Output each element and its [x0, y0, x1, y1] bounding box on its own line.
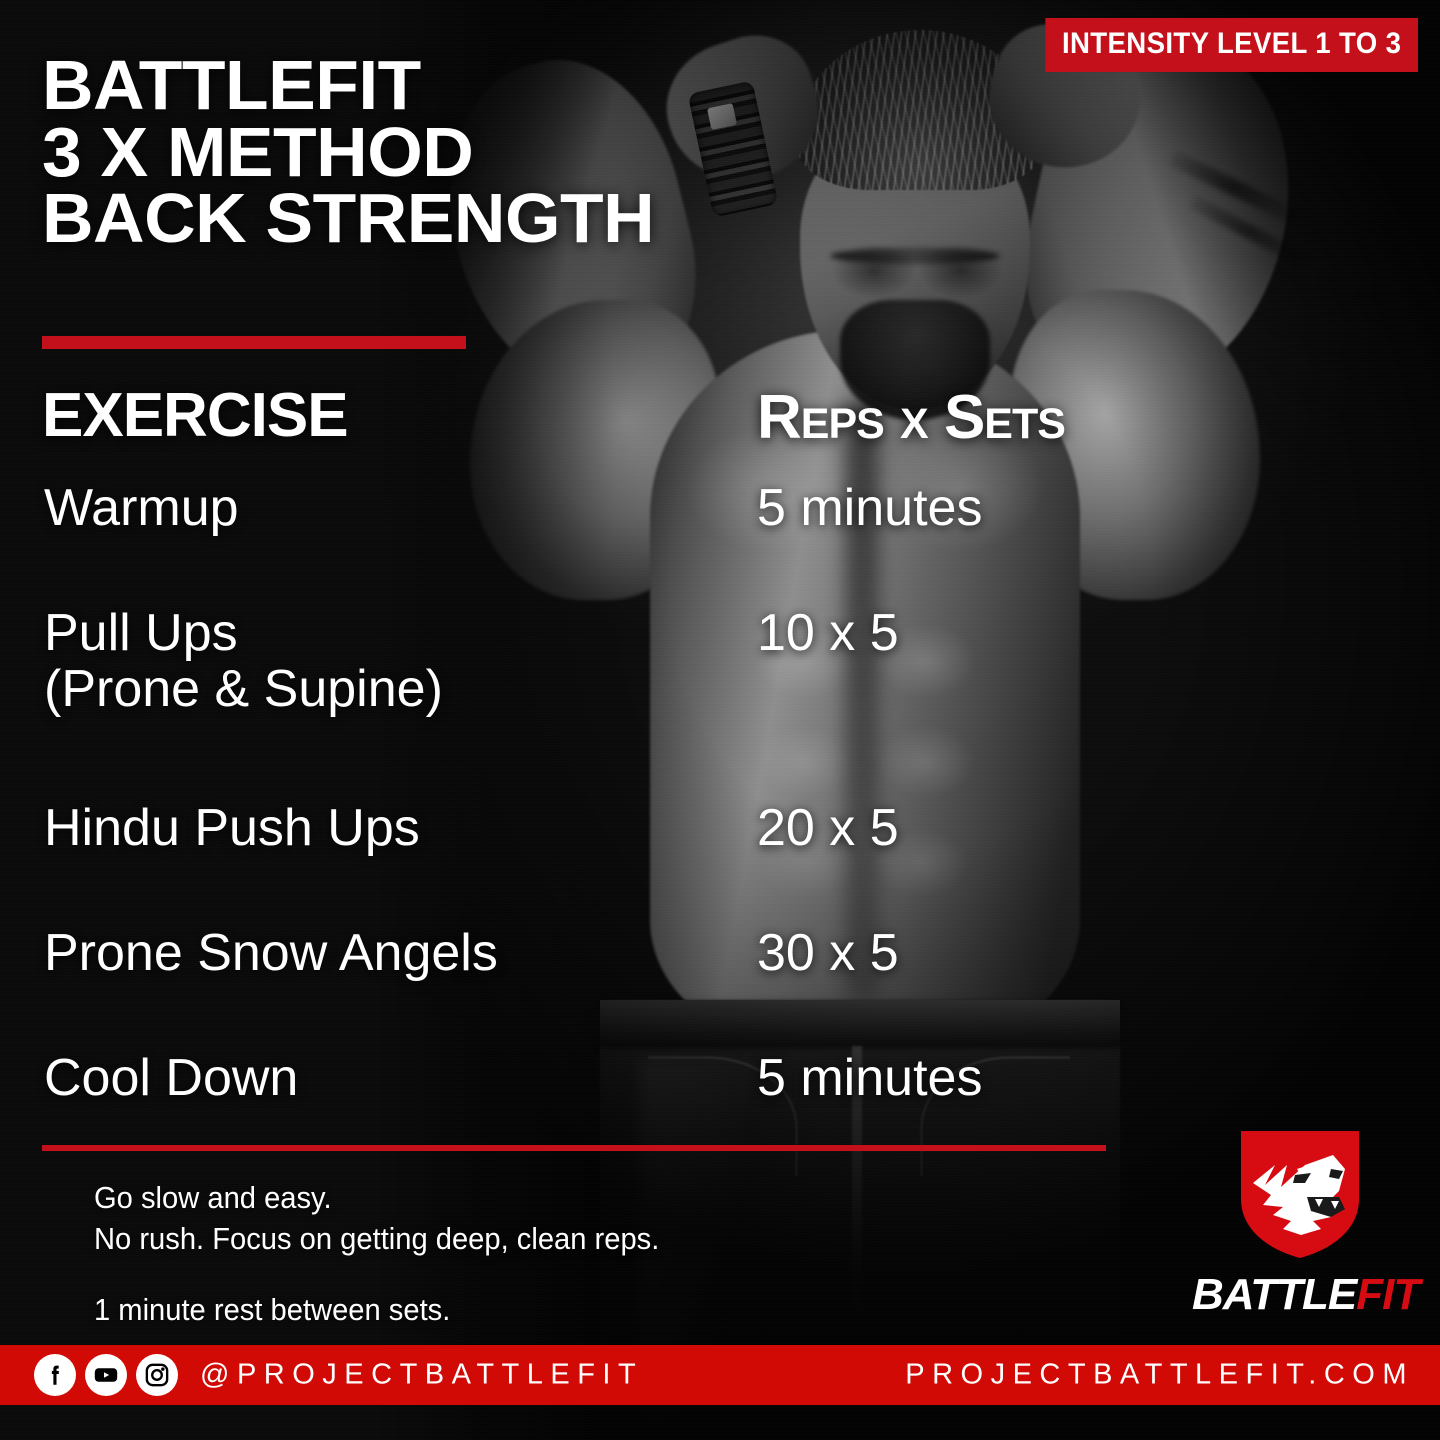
- exercise-name: Warmup: [44, 480, 239, 536]
- logo-word-fit: FIT: [1356, 1270, 1419, 1319]
- workout-poster: INTENSITY LEVEL 1 TO 3 BATTLEFIT 3 X MET…: [0, 0, 1440, 1440]
- exercise-reps: 5 minutes: [757, 1050, 982, 1106]
- instagram-icon[interactable]: [136, 1354, 178, 1396]
- logo-word-battle: BATTLE: [1192, 1270, 1356, 1319]
- title-line-1: BATTLEFIT: [42, 52, 654, 119]
- social-handle[interactable]: @PROJECTBATTLEFIT: [200, 1359, 643, 1392]
- exercise-reps: 10 x 5: [757, 605, 899, 661]
- title-line-2: 3 X METHOD: [42, 119, 654, 186]
- exercise-reps: 20 x 5: [757, 800, 899, 856]
- facebook-icon[interactable]: [34, 1354, 76, 1396]
- youtube-icon[interactable]: [85, 1354, 127, 1396]
- page-title: BATTLEFIT 3 X METHOD BACK STRENGTH: [42, 52, 642, 252]
- instruction-spacer: [94, 1260, 659, 1290]
- logo-wordmark: BATTLEFIT: [1192, 1270, 1408, 1320]
- column-header-exercise: EXERCISE: [42, 380, 348, 451]
- intensity-badge: INTENSITY LEVEL 1 TO 3: [1045, 18, 1418, 72]
- exercise-reps: 5 minutes: [757, 480, 982, 536]
- title-line-3: BACK STRENGTH: [42, 185, 654, 252]
- title-divider: [42, 336, 466, 349]
- instructions: Go slow and easy. No rush. Focus on gett…: [94, 1178, 659, 1331]
- exercise-name: Cool Down: [44, 1050, 298, 1106]
- lion-shield-icon: [1235, 1125, 1365, 1260]
- instruction-block-1: Go slow and easy. No rush. Focus on gett…: [94, 1178, 659, 1260]
- table-divider: [42, 1145, 1106, 1151]
- brand-logo: BATTLEFIT: [1192, 1125, 1408, 1320]
- footer-bar: @PROJECTBATTLEFIT PROJECTBATTLEFIT.COM: [0, 1345, 1440, 1405]
- exercise-name: Prone Snow Angels: [44, 925, 498, 981]
- exercise-reps: 30 x 5: [757, 925, 899, 981]
- poster-content: INTENSITY LEVEL 1 TO 3 BATTLEFIT 3 X MET…: [0, 0, 1440, 1440]
- exercise-name: Pull Ups (Prone & Supine): [44, 605, 443, 717]
- instruction-block-2: 1 minute rest between sets.: [94, 1290, 659, 1331]
- website-url[interactable]: PROJECTBATTLEFIT.COM: [905, 1359, 1414, 1392]
- social-icons: [34, 1354, 178, 1396]
- column-header-reps: Reps x Sets: [757, 382, 1065, 453]
- exercise-name: Hindu Push Ups: [44, 800, 420, 856]
